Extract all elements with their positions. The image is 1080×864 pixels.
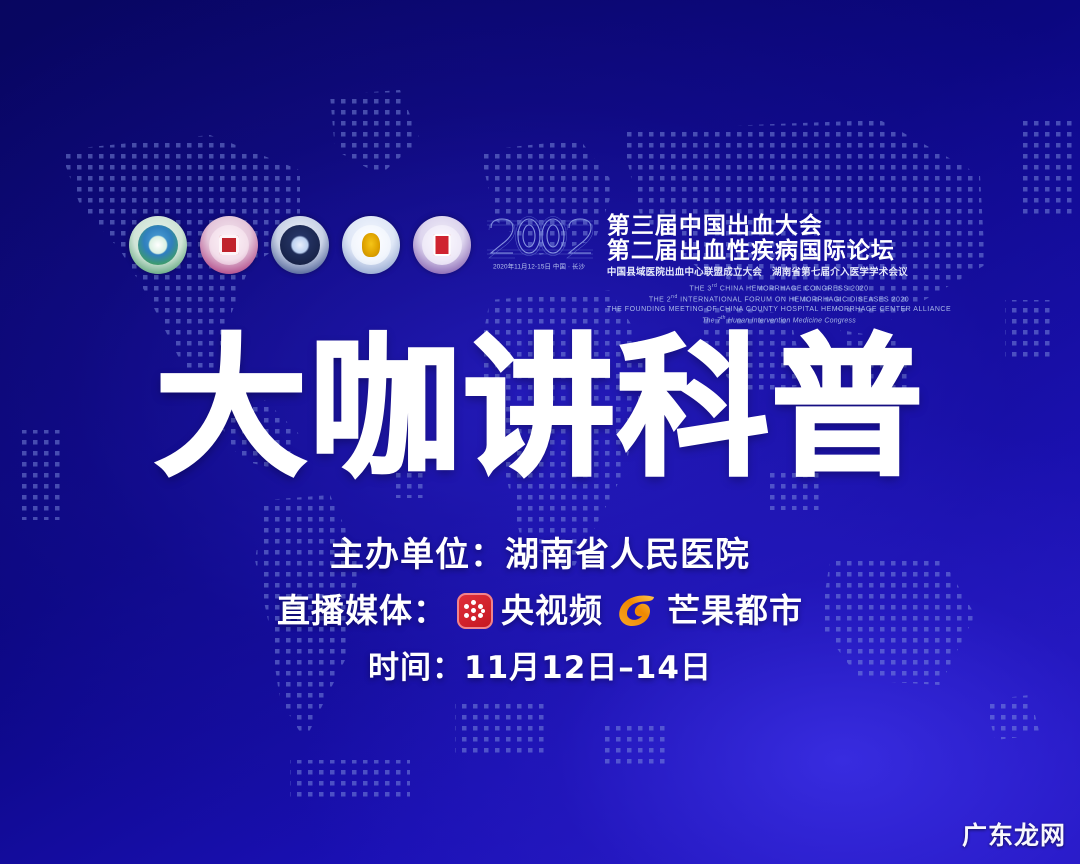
emblem-navy-caduceus xyxy=(271,216,329,274)
media-item-cctv[interactable]: 央视频 xyxy=(457,589,603,633)
congress-subtitle-cn-1: 中国县域医院出血中心联盟成立大会 xyxy=(607,267,762,279)
media-row: 直播媒体： 央视频 xyxy=(0,589,1080,633)
congress-en-line1: THE 3rd CHINA HEMORRHAGE CONGRESS 2020 xyxy=(607,282,951,293)
host-value: 湖南省人民医院 xyxy=(505,533,750,577)
emblem-magenta-square xyxy=(200,216,258,274)
emblem-purple-shield xyxy=(413,216,471,274)
media-name-mango: 芒果都市 xyxy=(667,589,803,633)
mango-tv-icon xyxy=(617,594,659,628)
host-label: 主办单位： xyxy=(330,533,505,577)
year-logo-subdate: 2020年11月12-15日 中国 · 长沙 xyxy=(489,262,588,271)
time-value: 11月12日–14日 xyxy=(464,647,712,689)
media-name-cctv: 央视频 xyxy=(501,589,603,633)
time-label: 时间： xyxy=(368,647,464,689)
info-block: 主办单位：湖南省人民医院 直播媒体： 央视频 xyxy=(0,533,1080,689)
time-row: 时间：11月12日–14日 xyxy=(0,647,1080,689)
emblem-gold-figure xyxy=(342,216,400,274)
emblem-globe-green xyxy=(129,216,187,274)
media-label: 直播媒体： xyxy=(277,589,447,633)
year-2020-logo: 2020年11月12-15日 中国 · 长沙 xyxy=(485,212,593,272)
host-row: 主办单位：湖南省人民医院 xyxy=(0,533,1080,577)
congress-titles: 第三届中国出血大会 第二届出血性疾病国际论坛 中国县域医院出血中心联盟成立大会湖… xyxy=(607,212,951,325)
congress-english-lines: THE 3rd CHINA HEMORRHAGE CONGRESS 2020 T… xyxy=(607,282,951,325)
cctv-video-icon xyxy=(457,593,493,629)
emblem-group xyxy=(129,212,471,274)
poster-root: 2020年11月12-15日 中国 · 长沙 第三届中国出血大会 第二届出血性疾… xyxy=(0,0,1080,864)
congress-subtitle-cn-2: 湖南省第七届介入医学学术会议 xyxy=(772,267,908,278)
conference-header-band: 2020年11月12-15日 中国 · 长沙 第三届中国出血大会 第二届出血性疾… xyxy=(0,212,1080,312)
congress-en-line2: THE 2nd INTERNATIONAL FORUM ON HEMORRHAG… xyxy=(607,293,951,304)
congress-title-line2: 第二届出血性疾病国际论坛 xyxy=(607,239,951,264)
watermark: 广东龙网 xyxy=(962,816,1066,852)
congress-en-line3: THE FOUNDING MEETING OF CHINA COUNTY HOS… xyxy=(607,305,951,314)
media-item-mango[interactable]: 芒果都市 xyxy=(617,589,803,633)
congress-title-line1: 第三届中国出血大会 xyxy=(607,214,951,239)
congress-subtitle-cn: 中国县域医院出血中心联盟成立大会湖南省第七届介入医学学术会议 xyxy=(607,267,951,279)
main-title: 大咖讲科普 xyxy=(0,333,1080,485)
